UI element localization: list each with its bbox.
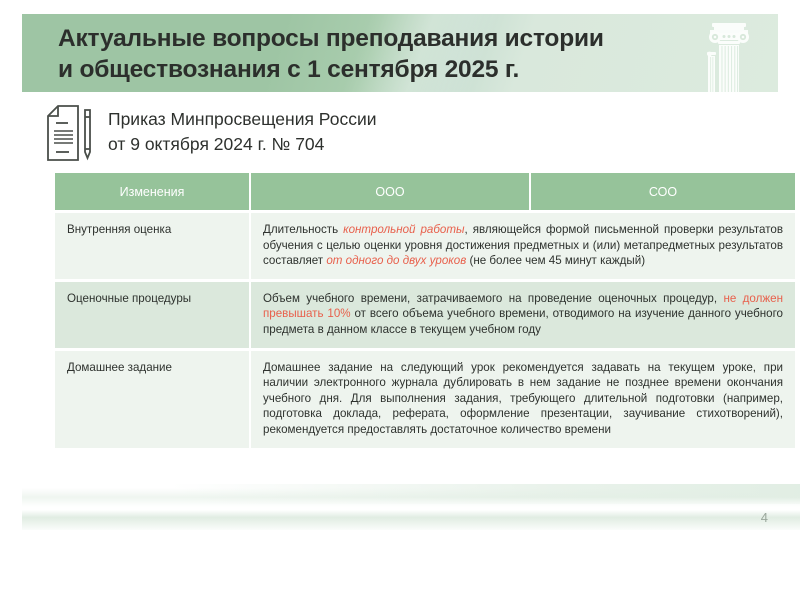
highlighted-text-segment: контрольной работы (343, 223, 464, 236)
column-header-ooo: ООО (251, 173, 531, 210)
presentation-slide: Актуальные вопросы преподавания истории … (0, 0, 800, 600)
footer-band (22, 488, 800, 530)
table-body: Внутренняя оценка Длительность контрольн… (55, 210, 795, 448)
text-segment: Длительность (263, 223, 343, 236)
document-with-pen-icon (44, 104, 98, 162)
highlighted-text-segment: от одного до двух уроков (326, 254, 466, 267)
row-label: Оценочные процедуры (55, 282, 251, 348)
order-subtitle: Приказ Минпросвещения России от 9 октябр… (108, 107, 578, 157)
text-segment: Домашнее задание на следующий урок реком… (263, 361, 783, 436)
changes-table: Изменения ООО СОО Внутренняя оценка Длит… (55, 173, 795, 448)
table-row: Домашнее задание Домашнее задание на сле… (55, 351, 795, 448)
row-label: Внутренняя оценка (55, 213, 251, 279)
text-segment: Объем учебного времени, затрачиваемого н… (263, 292, 723, 305)
text-segment: (не более чем 45 минут каждый) (466, 254, 645, 267)
ionic-column-icon (698, 16, 760, 92)
column-header-changes: Изменения (55, 173, 251, 210)
column-header-soo: СОО (531, 173, 795, 210)
changes-table-container: Изменения ООО СОО Внутренняя оценка Длит… (55, 173, 755, 448)
title-banner: Актуальные вопросы преподавания истории … (22, 14, 778, 92)
row-content: Объем учебного времени, затрачиваемого н… (251, 282, 795, 348)
page-number: 4 (761, 510, 768, 525)
table-head: Изменения ООО СОО (55, 173, 795, 210)
page-title: Актуальные вопросы преподавания истории … (58, 23, 658, 85)
row-content: Длительность контрольной работы, являюще… (251, 213, 795, 279)
row-label: Домашнее задание (55, 351, 251, 448)
table-header-row: Изменения ООО СОО (55, 173, 795, 210)
table-row: Внутренняя оценка Длительность контрольн… (55, 213, 795, 279)
table-row: Оценочные процедуры Объем учебного време… (55, 282, 795, 348)
row-content: Домашнее задание на следующий урок реком… (251, 351, 795, 448)
